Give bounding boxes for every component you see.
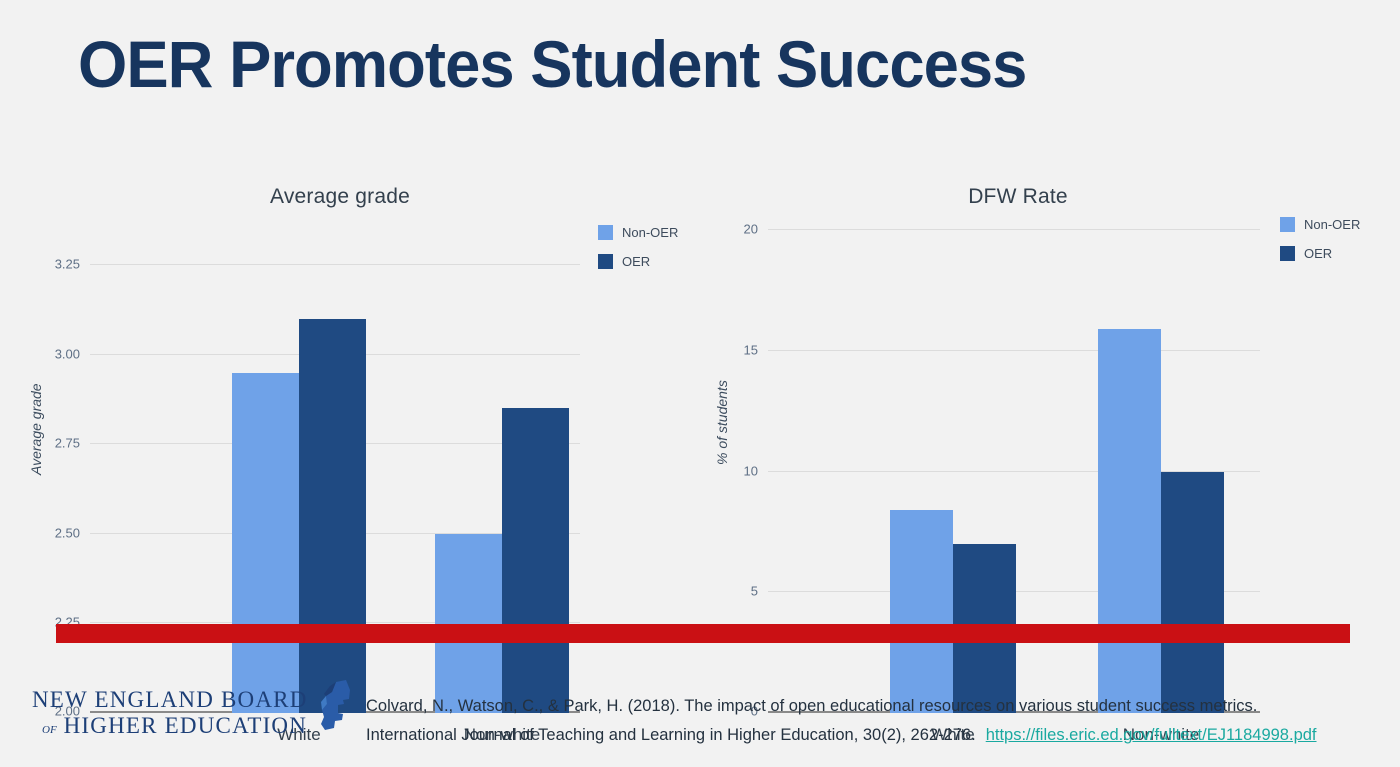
- gridline: 15: [768, 350, 1260, 351]
- chart-title: Average grade: [60, 185, 620, 209]
- legend-swatch-icon: [598, 254, 613, 269]
- legend-label: Non-OER: [1304, 217, 1360, 232]
- citation: Colvard, N., Watson, C., & Park, H. (201…: [366, 692, 1376, 750]
- legend-label: Non-OER: [622, 225, 678, 240]
- chart-dfw-rate: DFW Rate % of students 20151050WhiteNon-…: [700, 175, 1390, 585]
- chart-legend: Non-OEROER: [598, 225, 678, 283]
- chart-title: DFW Rate: [738, 185, 1298, 209]
- slide-canvas: OER Promotes Student Success Average gra…: [0, 0, 1400, 767]
- chart-legend: Non-OEROER: [1280, 217, 1360, 275]
- y-axis-label: Average grade: [28, 383, 44, 475]
- legend-swatch-icon: [1280, 246, 1295, 261]
- legend-item-oer[interactable]: OER: [1280, 246, 1360, 261]
- citation-line-2: International Journal of Teaching and Le…: [366, 726, 976, 744]
- legend-item-non-oer[interactable]: Non-OER: [1280, 217, 1360, 232]
- logo-line-2-text: HIGHER EDUCATION: [64, 713, 307, 738]
- legend-label: OER: [1304, 246, 1332, 261]
- chart-average-grade: Average grade Average grade 3.253.002.75…: [10, 175, 700, 585]
- gridline: 3.25: [90, 264, 580, 265]
- bar-white-non-oer: [232, 373, 299, 713]
- logo-line-1: NEW ENGLAND BOARD: [32, 688, 308, 711]
- bar-non-white-oer: [1161, 472, 1224, 714]
- logo-of-word: of: [42, 721, 57, 737]
- y-tick-label: 2.75: [55, 436, 80, 451]
- bar-non-white-non-oer: [1098, 329, 1161, 713]
- bar-white-non-oer: [890, 510, 953, 713]
- y-tick-label: 20: [744, 222, 758, 237]
- logo-wordmark: NEW ENGLAND BOARD of HIGHER EDUCATION: [32, 688, 308, 737]
- bar-non-white-oer: [502, 408, 569, 713]
- logo-line-2: of HIGHER EDUCATION: [42, 714, 308, 737]
- y-tick-label: 2.50: [55, 525, 80, 540]
- legend-label: OER: [622, 254, 650, 269]
- legend-swatch-icon: [598, 225, 613, 240]
- legend-item-oer[interactable]: OER: [598, 254, 678, 269]
- bar-white-oer: [299, 319, 366, 713]
- citation-line-1: Colvard, N., Watson, C., & Park, H. (201…: [366, 697, 1257, 715]
- y-axis-label: % of students: [714, 380, 730, 465]
- y-tick-label: 15: [744, 342, 758, 357]
- y-tick-label: 5: [751, 584, 758, 599]
- legend-swatch-icon: [1280, 217, 1295, 232]
- legend-item-non-oer[interactable]: Non-OER: [598, 225, 678, 240]
- y-tick-label: 3.25: [55, 257, 80, 272]
- y-tick-label: 3.00: [55, 346, 80, 361]
- nebhe-logo: NEW ENGLAND BOARD of HIGHER EDUCATION: [32, 684, 356, 741]
- gridline: 20: [768, 229, 1260, 230]
- plot-area: 3.253.002.752.502.252.00WhiteNon-white: [90, 265, 580, 713]
- y-tick-label: 10: [744, 463, 758, 478]
- page-title: OER Promotes Student Success: [78, 30, 1026, 99]
- accent-divider: [56, 624, 1350, 643]
- citation-link[interactable]: https://files.eric.ed.gov/fulltext/EJ118…: [986, 726, 1317, 744]
- new-england-map-icon: [316, 680, 356, 741]
